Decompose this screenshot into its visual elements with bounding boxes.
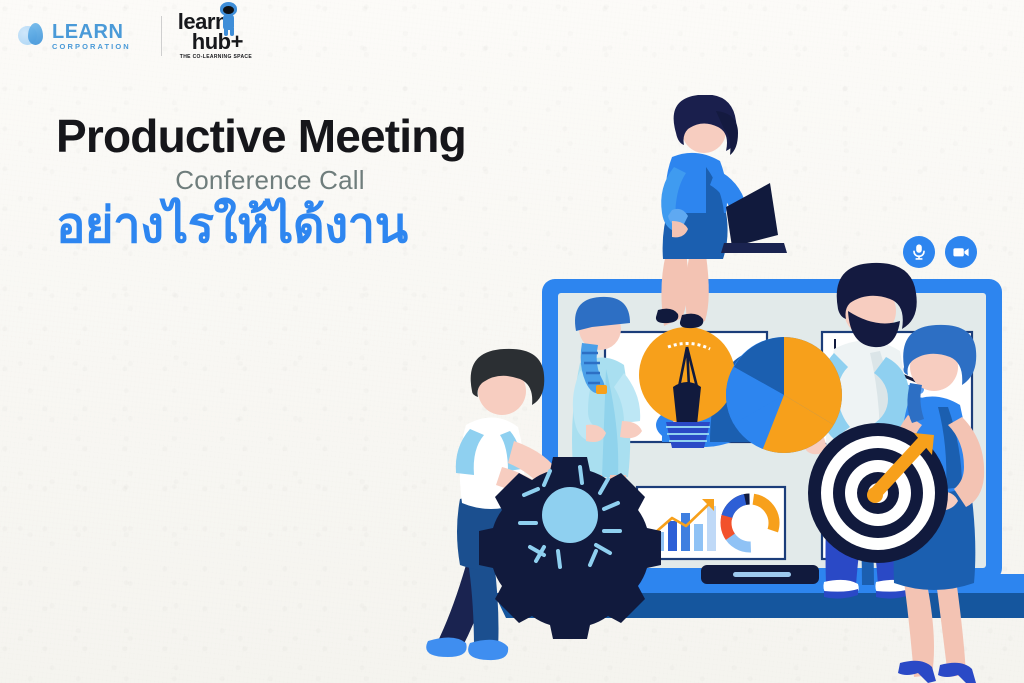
video-camera-icon <box>952 245 970 259</box>
learnhub-logo[interactable]: learn hub+ THE CO-LEARNING SPACE <box>176 12 252 60</box>
microphone-button[interactable] <box>903 236 935 268</box>
brand-logo-bar: LEARN CORPORATION learn hub+ THE CO-LEAR… <box>10 10 252 62</box>
conference-call-illustration <box>410 95 1024 683</box>
poster-canvas: LEARN CORPORATION learn hub+ THE CO-LEAR… <box>0 0 1024 683</box>
logo-divider <box>161 16 162 56</box>
page-title-thai: อย่างไรให้ได้งาน <box>56 198 484 254</box>
dart-target-icon <box>808 423 948 563</box>
page-subtitle: Conference Call <box>56 165 484 196</box>
video-camera-button[interactable] <box>945 236 977 268</box>
monkey-mascot-icon <box>218 2 240 36</box>
learn-corporation-logo[interactable]: LEARN CORPORATION <box>10 22 147 51</box>
learn-logo-name: LEARN <box>52 22 131 42</box>
page-title: Productive Meeting <box>56 112 484 160</box>
headline-block: Productive Meeting Conference Call อย่าง… <box>56 112 484 255</box>
call-controls <box>903 236 977 268</box>
learn-logo-sub: CORPORATION <box>52 43 131 51</box>
learn-droplet-logo-icon <box>18 23 46 49</box>
microphone-icon <box>911 243 927 261</box>
learnhub-tagline: THE CO-LEARNING SPACE <box>180 54 252 60</box>
